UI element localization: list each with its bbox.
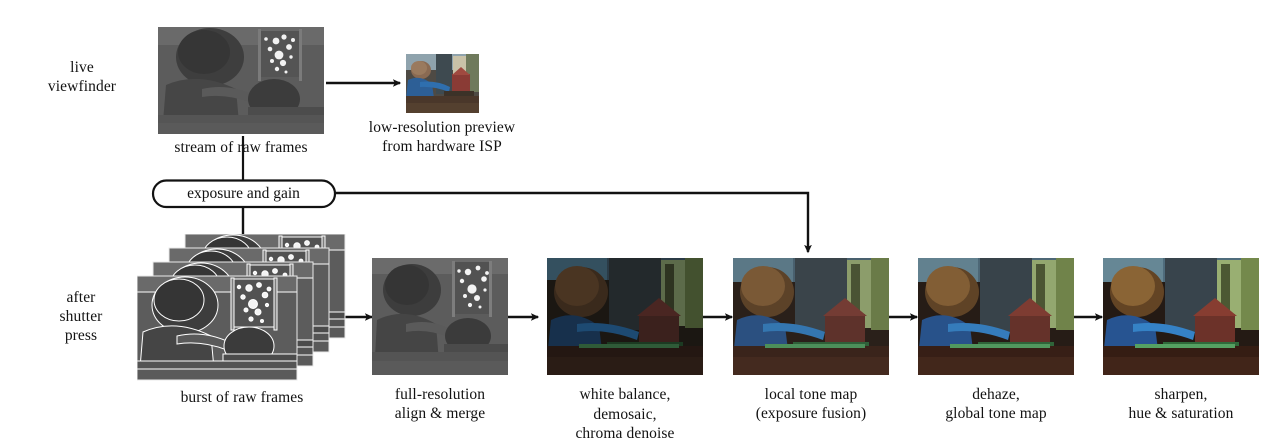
- caption-sharpen-line2: hue & saturation: [1088, 404, 1274, 423]
- caption-burst-of-raw-frames: burst of raw frames: [117, 388, 367, 407]
- thumbnail-burst-of-raw-frames[interactable]: [137, 234, 347, 382]
- caption-white-balance-demosaic: white balance, demosaic, chroma denoise: [536, 385, 714, 444]
- exposure-and-gain-label[interactable]: exposure and gain: [152, 185, 335, 203]
- caption-dehaze-global-tone-map: dehaze, global tone map: [903, 385, 1089, 423]
- row-label-live-line2: viewfinder: [22, 77, 142, 96]
- thumbnail-sharpen-hue-saturation[interactable]: [1103, 258, 1259, 375]
- caption-wb-line3: chroma denoise: [536, 424, 714, 444]
- caption-sharpen-line1: sharpen,: [1088, 385, 1274, 404]
- caption-wb-line2: demosaic,: [536, 405, 714, 425]
- thumbnail-local-tone-map[interactable]: [733, 258, 889, 375]
- row-label-live-line1: live: [22, 58, 142, 77]
- caption-ltm-line1: local tone map: [722, 385, 900, 404]
- caption-sharpen-hue-saturation: sharpen, hue & saturation: [1088, 385, 1274, 423]
- caption-stream-of-raw-frames: stream of raw frames: [158, 138, 324, 157]
- caption-dehaze-line1: dehaze,: [903, 385, 1089, 404]
- caption-ltm-line2: (exposure fusion): [722, 404, 900, 423]
- thumbnail-stream-of-raw-frames[interactable]: [158, 27, 324, 134]
- thumbnail-low-resolution-preview[interactable]: [406, 54, 479, 113]
- row-label-after-shutter-press: after shutter press: [22, 288, 140, 345]
- thumbnail-white-balance-demosaic[interactable]: [547, 258, 703, 375]
- edge-gain-to-localtonemap: [336, 193, 808, 252]
- diagram-canvas: live viewfinder after shutter press: [0, 0, 1280, 443]
- row-label-live-viewfinder: live viewfinder: [22, 58, 142, 96]
- caption-full-resolution-align-merge: full-resolution align & merge: [352, 385, 528, 423]
- caption-dehaze-line2: global tone map: [903, 404, 1089, 423]
- caption-merge-line1: full-resolution: [352, 385, 528, 404]
- row-label-after-line3: press: [22, 326, 140, 345]
- caption-merge-line2: align & merge: [352, 404, 528, 423]
- caption-low-resolution-preview: low-resolution preview from hardware ISP: [332, 118, 552, 156]
- caption-preview-line2: from hardware ISP: [332, 137, 552, 156]
- caption-preview-line1: low-resolution preview: [332, 118, 552, 137]
- row-label-after-line2: shutter: [22, 307, 140, 326]
- caption-local-tone-map: local tone map (exposure fusion): [722, 385, 900, 423]
- thumbnail-dehaze-global-tone-map[interactable]: [918, 258, 1074, 375]
- caption-wb-line1: white balance,: [536, 385, 714, 405]
- thumbnail-full-resolution-align-merge[interactable]: [372, 258, 508, 375]
- row-label-after-line1: after: [22, 288, 140, 307]
